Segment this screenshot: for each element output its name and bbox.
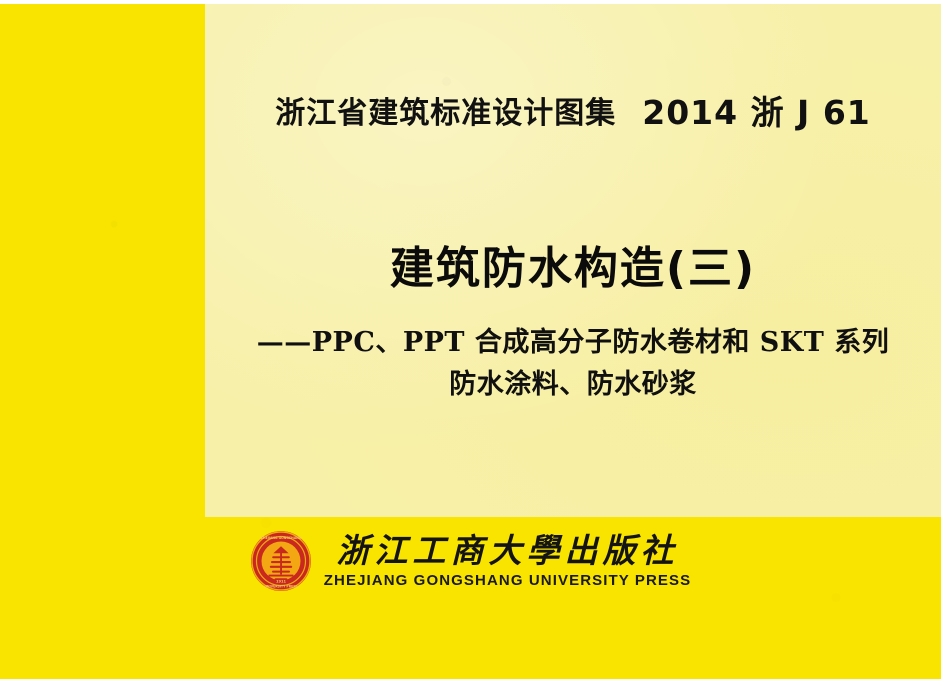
svg-text:1911: 1911	[276, 579, 287, 583]
subtitle-line-1: ——PPC、PPT 合成高分子防水卷材和 SKT 系列	[205, 322, 941, 364]
atlas-code-label: 2014 浙 J 61	[642, 93, 871, 132]
press-seal-icon: ZHEJIANG GONGSHANG UNIVERSITY PRESS	[250, 530, 312, 592]
svg-text:ZHEJIANG GONGSHANG: ZHEJIANG GONGSHANG	[261, 536, 302, 540]
subtitle-line-2: 防水涂料、防水砂浆	[205, 364, 941, 406]
press-name-cn: 浙江工商大學出版社	[336, 531, 678, 571]
publisher-lockup: ZHEJIANG GONGSHANG UNIVERSITY PRESS	[0, 530, 941, 592]
atlas-header: 浙江省建筑标准设计图集2014 浙 J 61	[205, 86, 941, 134]
press-name-group: 浙江工商大學出版社 ZHEJIANG GONGSHANG UNIVERSITY …	[324, 531, 691, 591]
atlas-series-label: 浙江省建筑标准设计图集	[275, 96, 616, 131]
svg-text:UNIVERSITY PRESS: UNIVERSITY PRESS	[264, 585, 297, 589]
page-title: 建筑防水构造(三)	[205, 232, 941, 296]
book-cover: 浙江省建筑标准设计图集2014 浙 J 61 建筑防水构造(三) ——PPC、P…	[0, 0, 950, 679]
press-name-en: ZHEJIANG GONGSHANG UNIVERSITY PRESS	[324, 571, 691, 591]
subtitle-block: ——PPC、PPT 合成高分子防水卷材和 SKT 系列 防水涂料、防水砂浆	[205, 322, 941, 406]
